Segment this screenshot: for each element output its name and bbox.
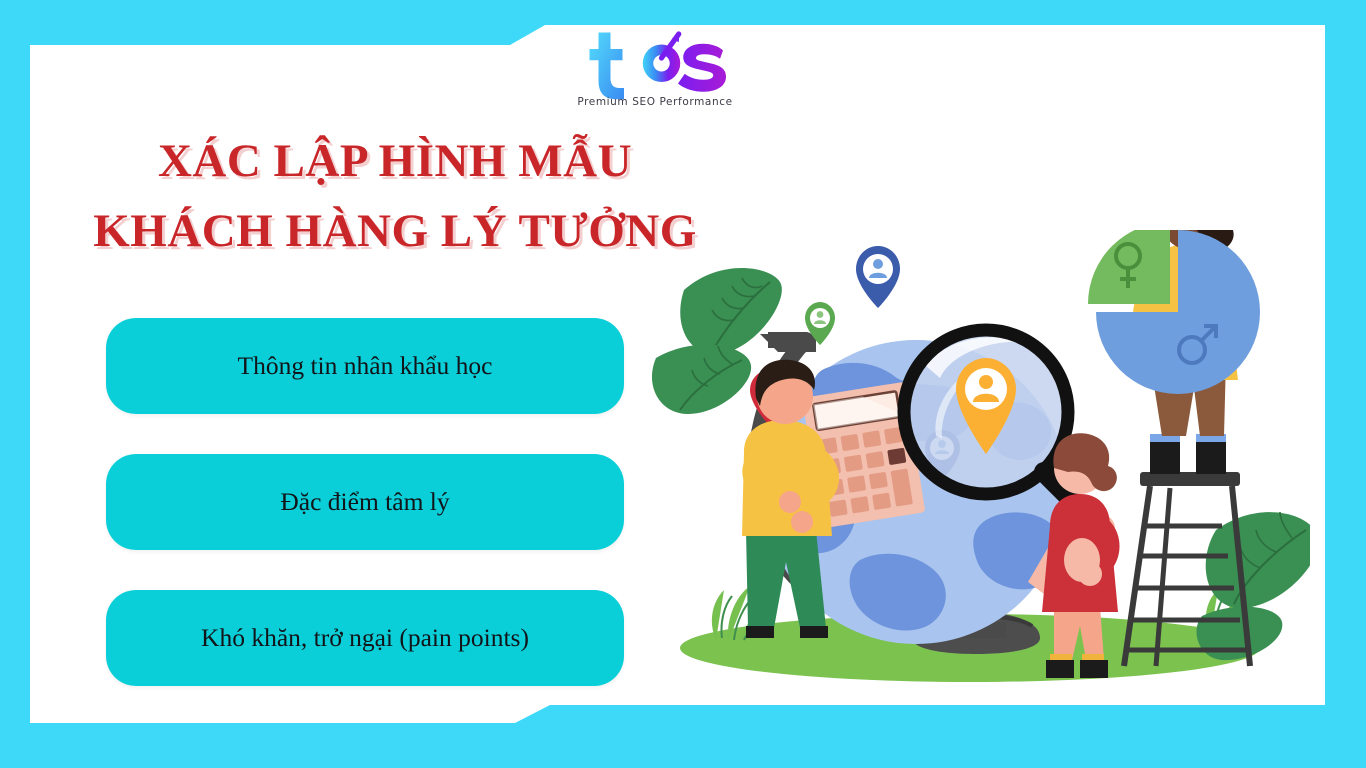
list-item[interactable]: Thông tin nhân khẩu học <box>106 318 624 414</box>
list-item[interactable]: Khó khăn, trở ngại (pain points) <box>106 590 624 686</box>
page-title-line-1: XÁC LẬP HÌNH MẪU <box>55 138 735 186</box>
leaf-icon <box>680 268 782 354</box>
illustration-svg <box>650 230 1310 690</box>
logo[interactable]: Premium SEO Performance <box>570 28 740 128</box>
pin-blue-top <box>856 246 900 308</box>
leaf-icon <box>652 345 751 414</box>
logo-tagline: Premium SEO Performance <box>570 96 740 108</box>
list-item[interactable]: Đặc điểm tâm lý <box>106 454 624 550</box>
page-title: XÁC LẬP HÌNH MẪU KHÁCH HÀNG LÝ TƯỞNG <box>55 138 735 256</box>
list-item-label: Đặc điểm tâm lý <box>280 487 449 517</box>
customer-persona-illustration <box>650 230 1310 690</box>
logo-mark-icon <box>573 28 738 100</box>
list-item-label: Thông tin nhân khẩu học <box>238 351 493 381</box>
feature-list: Thông tin nhân khẩu học Đặc điểm tâm lý … <box>106 318 626 726</box>
poster-canvas: Premium SEO Performance XÁC LẬP HÌNH MẪU… <box>0 0 1366 768</box>
page-title-line-2: KHÁCH HÀNG LÝ TƯỞNG <box>55 208 735 256</box>
list-item-label: Khó khăn, trở ngại (pain points) <box>201 623 529 653</box>
